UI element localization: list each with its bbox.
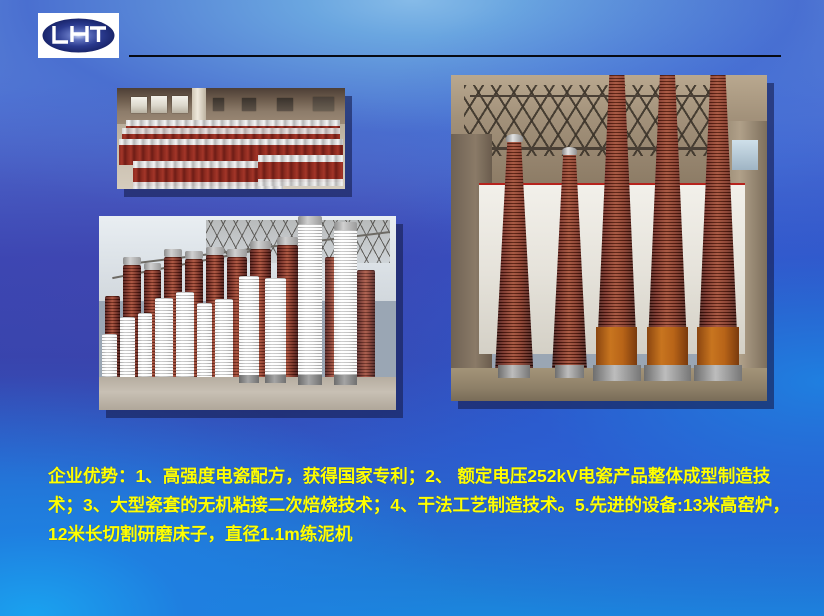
insulator-white — [215, 299, 233, 377]
insulator-base — [334, 375, 358, 385]
insulator-orange-base — [596, 327, 637, 369]
lht-company-logo — [38, 13, 119, 58]
insulator-cap — [164, 249, 182, 257]
photo-tall-insulators-content — [451, 75, 767, 401]
insulator-cap — [334, 222, 358, 230]
insulator-flange — [694, 365, 741, 381]
insulator-white — [155, 298, 173, 378]
photo-mixed-insulators-content — [99, 216, 396, 410]
insulator-cap-row — [258, 179, 342, 186]
insulator-body — [697, 75, 738, 368]
insulator-body — [647, 75, 688, 368]
insulator-cap — [185, 251, 203, 259]
insulator-flange — [555, 365, 583, 378]
insulator-cap — [277, 237, 298, 245]
insulator-bushing — [596, 75, 637, 368]
header-divider-line — [129, 55, 781, 57]
insulator-white — [334, 230, 358, 377]
insulator-orange-base — [697, 327, 738, 369]
insulator-body — [596, 75, 637, 368]
insulator-white — [102, 334, 117, 377]
photo-mixed-insulators — [99, 216, 396, 410]
insulator-bushing — [552, 153, 587, 368]
window — [242, 98, 256, 111]
window — [277, 98, 293, 111]
insulator-cap — [298, 216, 322, 224]
insulator-cap — [250, 241, 271, 249]
lht-logo-icon — [40, 15, 117, 56]
photo-insulator-array-content — [117, 88, 345, 189]
insulator-white — [176, 292, 194, 377]
insulator-cap — [227, 249, 248, 257]
insulator-cap — [206, 247, 224, 255]
insulator-white — [265, 278, 286, 377]
insulator-orange-base — [647, 327, 688, 369]
insulator-body — [552, 153, 587, 368]
window — [151, 96, 167, 113]
insulator-bushing — [647, 75, 688, 368]
photo-tall-insulators — [451, 75, 767, 401]
insulator-flange — [498, 365, 530, 378]
insulator-white — [239, 276, 260, 377]
window — [313, 97, 334, 111]
window — [213, 98, 224, 111]
insulator-white — [138, 313, 153, 377]
window — [131, 97, 147, 113]
insulator-base — [298, 375, 322, 385]
insulator-bushing — [697, 75, 738, 368]
insulator-body — [495, 140, 533, 368]
insulator-cap-row — [258, 155, 342, 162]
photo-insulator-array — [117, 88, 345, 189]
presentation-slide: 企业优势：1、高强度电瓷配方，获得国家专利；2、 额定电压252kV电瓷产品整体… — [0, 0, 824, 616]
insulator-bushing — [495, 140, 533, 368]
slide-caption: 企业优势：1、高强度电瓷配方，获得国家专利；2、 额定电压252kV电瓷产品整体… — [48, 462, 800, 549]
insulator-base — [239, 375, 260, 383]
insulator-cap — [123, 257, 141, 265]
support-pillar — [192, 88, 206, 124]
insulator-white — [197, 303, 212, 377]
insulator-cap — [506, 134, 523, 142]
insulator-base — [265, 375, 286, 383]
insulator-flange — [644, 365, 691, 381]
insulator-brown — [357, 270, 375, 377]
insulator-white — [120, 317, 135, 377]
insulator-white — [298, 224, 322, 377]
insulator-flange — [593, 365, 640, 381]
insulator-cap — [562, 147, 577, 155]
insulator-cap — [144, 263, 162, 271]
window — [172, 96, 188, 113]
